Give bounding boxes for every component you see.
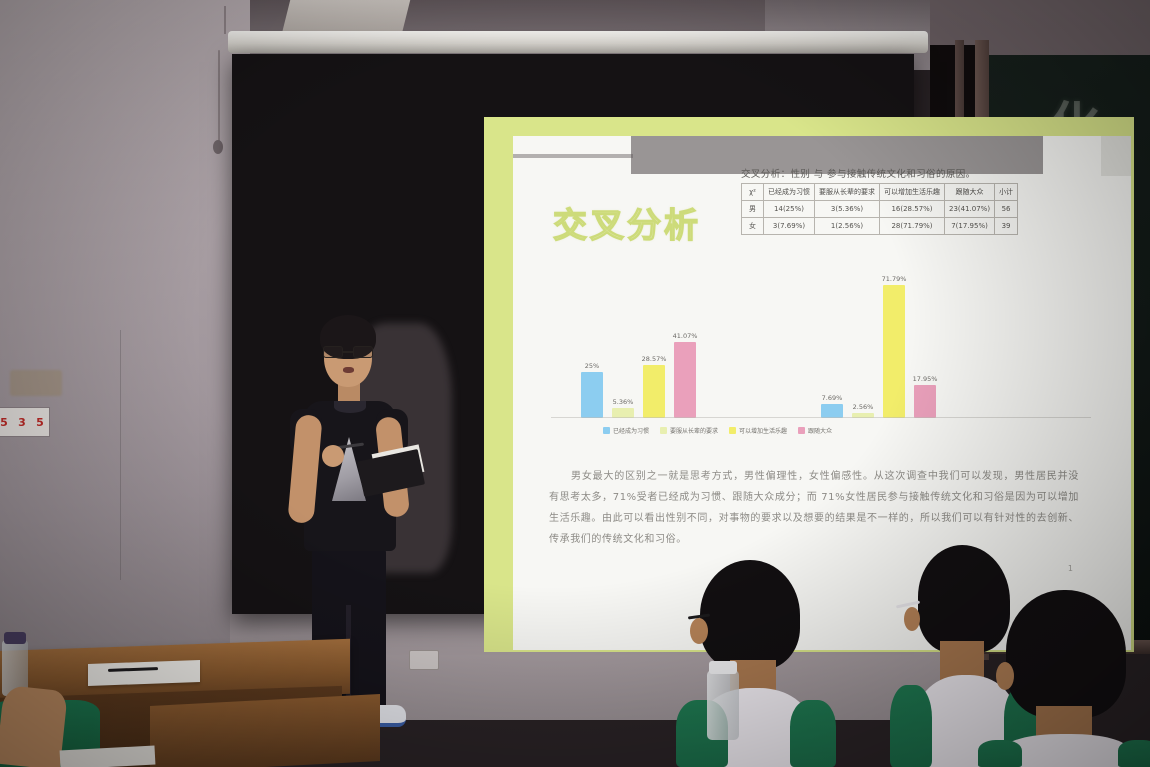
bar-wrap: 71.79%: [883, 285, 905, 418]
bar-label-female-fun: 71.79%: [882, 275, 907, 283]
classroom-scene: 5 3 5 化二 义教 交叉分析 交叉分析：性别 与 参与接触传统文化和习俗的原…: [0, 0, 1150, 767]
table-row: 男 14(25%) 3(5.36%) 16(28.57%) 23(41.07%)…: [742, 201, 1018, 218]
screen-pull-knob[interactable]: [213, 140, 223, 154]
slide-title: 交叉分析: [553, 198, 701, 247]
cell-female-habit: 3(7.69%): [764, 218, 815, 235]
notebook-on-desk: [88, 660, 200, 686]
legend-swatch-fun: [729, 427, 736, 434]
projector-screen-roller[interactable]: [228, 31, 928, 53]
legend-swatch-habit: [603, 427, 610, 434]
bar-label-male-habit: 25%: [585, 362, 599, 370]
bar-label-female-elder: 2.56%: [853, 403, 874, 411]
cell-female-fun: 28(71.79%): [880, 218, 945, 235]
left-wall: [0, 0, 250, 700]
cross-analysis-bar-chart: 25% 5.36% 28.57%: [551, 268, 1091, 453]
wall-sign: 5 3 5: [0, 407, 50, 437]
projection-edge-shade: [1101, 136, 1131, 176]
wall-stain: [10, 370, 62, 396]
student-uniform-green-right: [790, 700, 836, 767]
presenter-hand-left: [322, 445, 344, 467]
wall-sign-digit-1: 5: [0, 416, 8, 429]
student-uniform-green-left: [978, 740, 1022, 767]
bar-male-crowd: [674, 342, 696, 418]
table-col-2: 要服从长辈的要求: [815, 184, 880, 201]
chart-legend: 已经成为习惯 要服从长辈的要求 可以增加生活乐趣 跟随大众: [603, 426, 832, 435]
table-col-1: 已经成为习惯: [764, 184, 815, 201]
legend-label-habit: 已经成为习惯: [613, 426, 649, 435]
water-bottle-right: [707, 670, 739, 740]
table-header-row: χ² 已经成为习惯 要服从长辈的要求 可以增加生活乐趣 跟随大众 小计: [742, 184, 1018, 201]
glasses-lens-right: [353, 346, 373, 358]
bar-female-habit: [821, 404, 843, 418]
bar-label-male-crowd: 41.07%: [673, 332, 698, 340]
bar-label-female-crowd: 17.95%: [913, 375, 938, 383]
student-front-right: [1000, 590, 1150, 767]
wall-outlet: [409, 650, 439, 670]
student-hair: [918, 545, 1010, 653]
cell-male-habit: 14(25%): [764, 201, 815, 218]
bar-female-crowd: [914, 385, 936, 418]
legend-label-elder: 要服从长辈的要求: [670, 426, 718, 435]
legend-item-fun: 可以增加生活乐趣: [729, 426, 787, 435]
table-row-label-male: 男: [742, 201, 764, 218]
legend-label-crowd: 跟随大众: [808, 426, 832, 435]
bar-group-female: 7.69% 2.56% 71.79%: [821, 285, 936, 418]
bar-group-male: 25% 5.36% 28.57%: [581, 342, 696, 418]
student-ear: [996, 662, 1014, 690]
cell-male-elder: 3(5.36%): [815, 201, 880, 218]
student-hair: [1006, 590, 1126, 718]
student-ear: [690, 618, 708, 644]
table-caption: 交叉分析：性别 与 参与接触传统文化和习俗的原因。: [741, 166, 976, 180]
cell-male-crowd: 23(41.07%): [945, 201, 995, 218]
water-bottle-left-cap: [4, 632, 26, 644]
wall-sign-digit-3: 5: [36, 416, 44, 429]
bar-male-fun: [643, 365, 665, 418]
screen-pull-chain[interactable]: [218, 50, 220, 145]
bar-label-male-elder: 5.36%: [613, 398, 634, 406]
chart-baseline: [551, 417, 1091, 418]
bar-label-female-habit: 7.69%: [822, 394, 843, 402]
paper-on-front-desk: [60, 746, 156, 767]
cell-female-elder: 1(2.56%): [815, 218, 880, 235]
legend-item-habit: 已经成为习惯: [603, 426, 649, 435]
screen-cord: [224, 6, 226, 34]
student-foreground-left-arm: [0, 685, 68, 767]
glasses-bridge: [343, 351, 353, 353]
bar-wrap: 25%: [581, 372, 603, 418]
cell-female-total: 39: [995, 218, 1018, 235]
table-row-label-female: 女: [742, 218, 764, 235]
cell-male-total: 56: [995, 201, 1018, 218]
bar-label-male-fun: 28.57%: [642, 355, 667, 363]
student-uniform-white: [1004, 734, 1128, 767]
bar-wrap: 17.95%: [914, 385, 936, 418]
wall-sign-digit-2: 3: [18, 416, 26, 429]
desk-row-front: [150, 694, 380, 767]
bar-wrap: 28.57%: [643, 365, 665, 418]
cell-female-crowd: 7(17.95%): [945, 218, 995, 235]
student-hair: [700, 560, 800, 670]
legend-swatch-crowd: [798, 427, 805, 434]
table-col-3: 可以增加生活乐趣: [880, 184, 945, 201]
legend-swatch-elder: [660, 427, 667, 434]
chart-plot-area: 25% 5.36% 28.57%: [551, 268, 1091, 418]
student-ear: [904, 607, 920, 631]
bar-female-fun: [883, 285, 905, 418]
legend-label-fun: 可以增加生活乐趣: [739, 426, 787, 435]
student-uniform-green-left: [890, 685, 932, 767]
presenter-glasses: [322, 346, 374, 358]
presenter-collar: [334, 401, 366, 413]
bar-male-habit: [581, 372, 603, 418]
table-col-4: 跟随大众: [945, 184, 995, 201]
student-uniform-green-right: [1118, 740, 1150, 767]
presenter-mouth: [343, 367, 354, 373]
table-col-0: χ²: [742, 184, 764, 201]
bar-wrap: 41.07%: [674, 342, 696, 418]
water-bottle-right-cap: [709, 661, 737, 674]
cell-male-fun: 16(28.57%): [880, 201, 945, 218]
table-col-5: 小计: [995, 184, 1018, 201]
wall-seam: [120, 330, 121, 580]
glasses-lens-left: [323, 346, 343, 358]
legend-item-elder: 要服从长辈的要求: [660, 426, 718, 435]
table-row: 女 3(7.69%) 1(2.56%) 28(71.79%) 7(17.95%)…: [742, 218, 1018, 235]
bar-wrap: 7.69%: [821, 404, 843, 418]
projection-shadow-band-secondary: [513, 154, 633, 158]
slide-paragraph: 男女最大的区别之一就是思考方式，男性偏理性，女性偏感性。从这次调查中我们可以发现…: [549, 466, 1079, 550]
legend-item-crowd: 跟随大众: [798, 426, 832, 435]
cross-analysis-table: χ² 已经成为习惯 要服从长辈的要求 可以增加生活乐趣 跟随大众 小计 男 14…: [741, 183, 1018, 235]
